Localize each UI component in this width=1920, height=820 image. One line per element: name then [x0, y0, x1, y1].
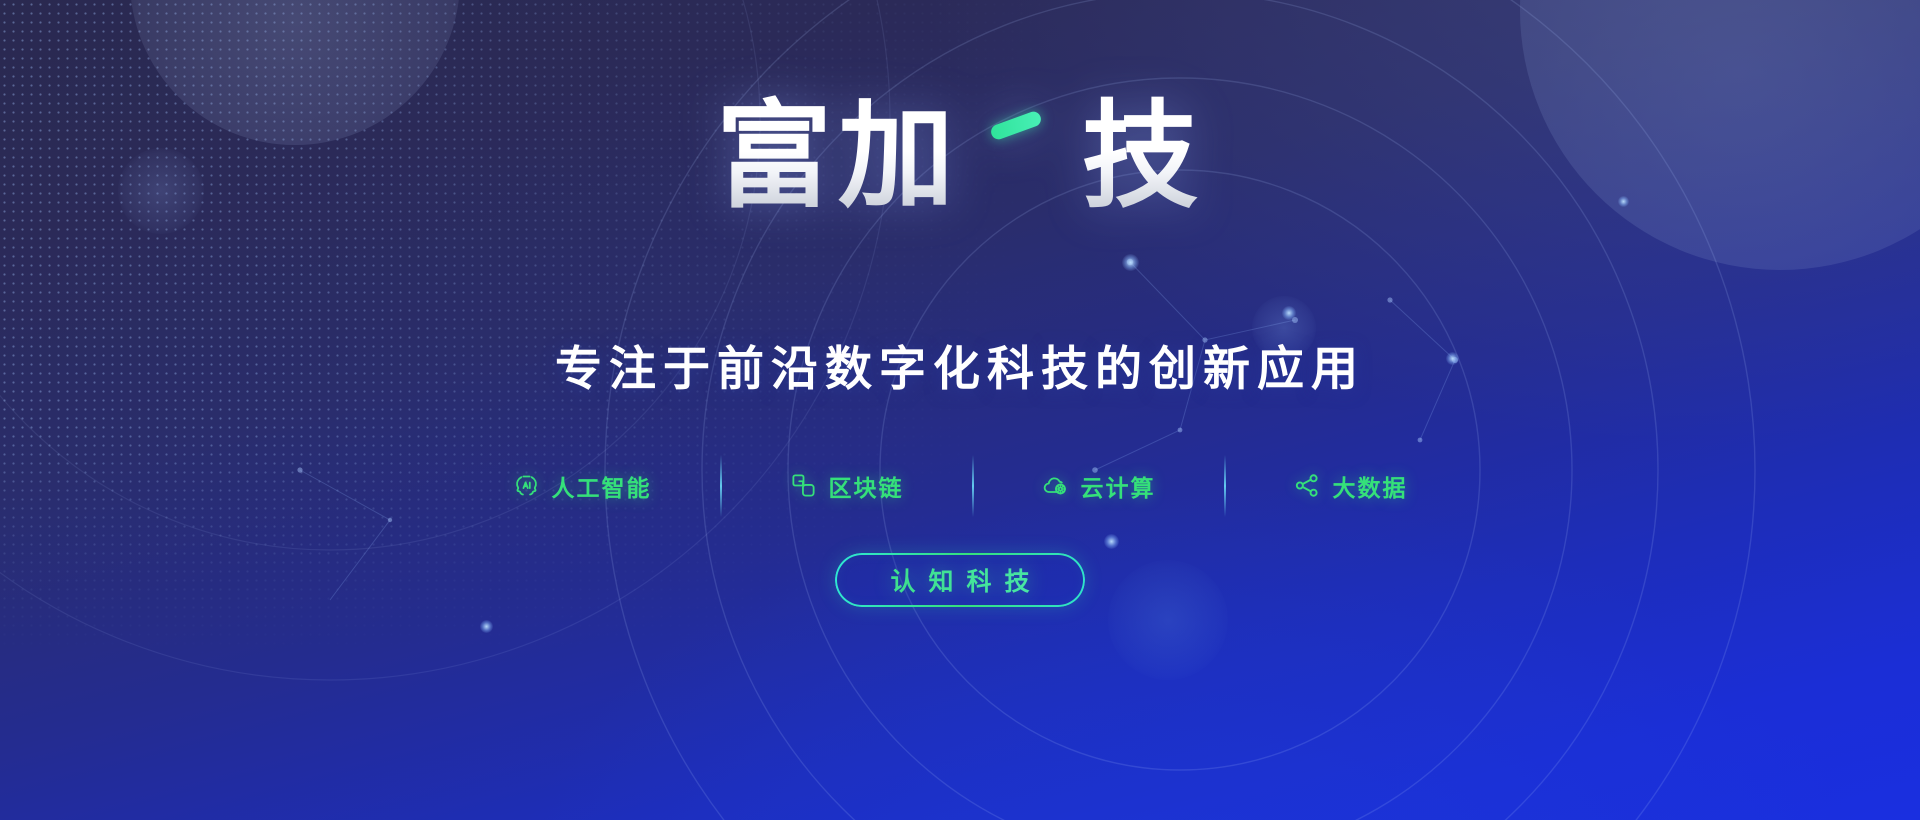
blockchain-blocks-icon: [790, 472, 817, 499]
feature-tag-label: 大数据: [1333, 469, 1408, 503]
cloud-gear-icon: [1042, 472, 1069, 499]
hero-content: 富加科技 专注于前沿数字化科技的创新应用 人工智能: [0, 0, 1920, 820]
feature-tag-label: 人工智能: [552, 469, 652, 503]
brand-title-part-3: 技: [1082, 91, 1204, 221]
share-nodes-icon: [1294, 472, 1321, 499]
cognitive-tech-button[interactable]: 认知科技: [835, 553, 1084, 607]
brand-title-accent-char: 科: [960, 91, 1082, 221]
feature-tag-label: 区块链: [829, 469, 904, 503]
tag-divider: [972, 455, 974, 517]
cta-button-label: 认知科技: [877, 562, 1042, 598]
brand-title-part-1: 富加: [716, 91, 960, 221]
hero-subtitle: 专注于前沿数字化科技的创新应用: [555, 330, 1365, 399]
brand-title-accent-char-wrap: 科: [960, 92, 1082, 222]
feature-tag-list: 人工智能 区块链: [507, 455, 1414, 517]
ai-head-icon: [513, 472, 540, 499]
tag-divider: [1224, 455, 1226, 517]
feature-tag-ai[interactable]: 人工智能: [507, 469, 658, 503]
feature-tag-cloud[interactable]: 云计算: [1036, 469, 1162, 503]
hero-banner: 富加科技 专注于前沿数字化科技的创新应用 人工智能: [0, 0, 1920, 820]
feature-tag-label: 云计算: [1081, 469, 1156, 503]
tag-divider: [720, 455, 722, 517]
feature-tag-bigdata[interactable]: 大数据: [1288, 469, 1414, 503]
feature-tag-blockchain[interactable]: 区块链: [784, 469, 910, 503]
page-title: 富加科技: [716, 92, 1204, 222]
